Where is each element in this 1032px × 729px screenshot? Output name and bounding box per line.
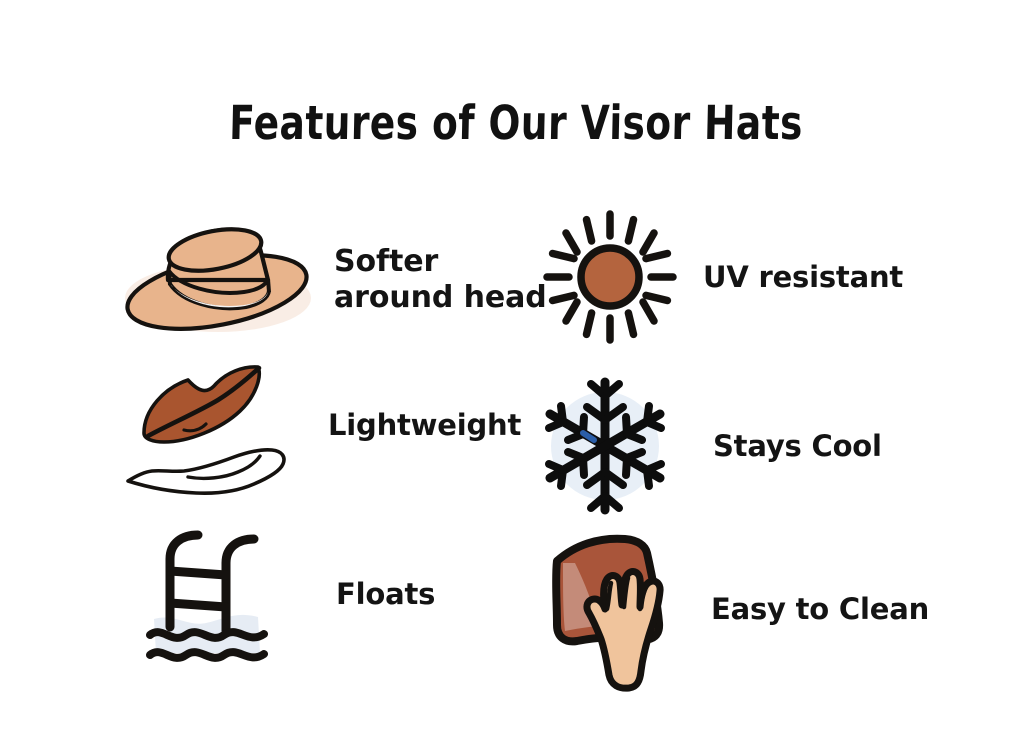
feature-uv-resistant: UV resistant xyxy=(541,208,903,346)
feature-label-stays-cool: Stays Cool xyxy=(713,429,882,463)
feature-easy-to-clean: Easy to Clean xyxy=(541,527,929,692)
snowflake-icon xyxy=(541,376,669,516)
feature-label-easy-to-clean: Easy to Clean xyxy=(711,592,929,626)
feature-stays-cool: Stays Cool xyxy=(541,376,882,516)
feature-floats: Floats xyxy=(148,527,435,662)
hand-wiping-cloth-icon xyxy=(541,527,681,692)
feature-label-uv-resistant: UV resistant xyxy=(703,260,903,294)
feature-label-floats: Floats xyxy=(336,577,435,611)
feature-lightweight: Lightweight xyxy=(126,358,521,493)
leaf-on-hand-icon xyxy=(126,358,316,493)
sun-icon xyxy=(541,208,679,346)
infographic-canvas: Features of Our Visor Hats xyxy=(0,0,1032,729)
feature-label-lightweight: Lightweight xyxy=(328,408,521,442)
page-title: Features of Our Visor Hats xyxy=(103,96,930,151)
feature-label-softer: Softer around head xyxy=(334,244,547,315)
feature-softer-around-head: Softer around head xyxy=(118,222,547,337)
pool-ladder-water-icon xyxy=(148,527,298,662)
sun-hat-icon xyxy=(118,222,318,337)
